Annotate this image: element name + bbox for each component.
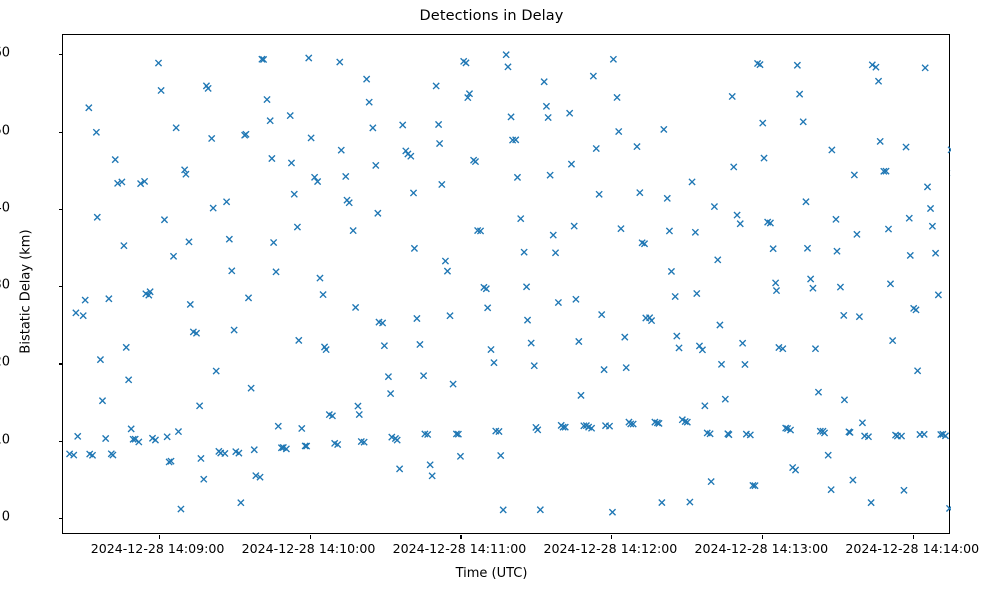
scatter-marker (851, 172, 857, 178)
scatter-marker (264, 96, 270, 102)
y-tick-mark (59, 518, 63, 519)
scatter-marker (692, 229, 698, 235)
scatter-marker (606, 423, 612, 429)
y-axis-label: Bistatic Delay (km) (19, 142, 34, 442)
scatter-marker (170, 253, 176, 259)
scatter-marker (571, 223, 577, 229)
scatter-marker (317, 275, 323, 281)
scatter-marker (152, 437, 158, 443)
scatter-marker (463, 60, 469, 66)
scatter-marker (417, 341, 423, 347)
scatter-marker (343, 173, 349, 179)
scatter-marker (901, 487, 907, 493)
scatter-marker (948, 147, 951, 153)
scatter-marker (99, 398, 105, 404)
scatter-marker (385, 374, 391, 380)
scatter-marker (524, 317, 530, 323)
scatter-marker (568, 161, 574, 167)
scatter-marker (856, 314, 862, 320)
y-tick-label: 60 (0, 46, 10, 61)
scatter-marker (590, 73, 596, 79)
scatter-marker (760, 120, 766, 126)
scatter-marker (106, 296, 112, 302)
scatter-marker (794, 62, 800, 68)
scatter-marker (593, 145, 599, 151)
scatter-marker (73, 310, 79, 316)
scatter-marker (737, 221, 743, 227)
scatter-marker (308, 135, 314, 141)
scatter-marker (238, 500, 244, 506)
scatter-marker (773, 280, 779, 286)
scatter-marker (804, 245, 810, 251)
scatter-marker (164, 434, 170, 440)
scatter-marker (523, 284, 529, 290)
scatter-marker (435, 121, 441, 127)
scatter-marker (491, 360, 497, 366)
scatter-marker (942, 433, 948, 439)
scatter-marker (676, 345, 682, 351)
scatter-marker (550, 232, 556, 238)
scatter-marker (299, 425, 305, 431)
scatter-marker (803, 199, 809, 205)
scatter-marker (687, 499, 693, 505)
scatter-marker (555, 299, 561, 305)
scatter-marker (126, 377, 132, 383)
scatter-marker (364, 76, 370, 82)
scatter-marker (485, 305, 491, 311)
scatter-marker (75, 433, 81, 439)
x-tick-mark (460, 535, 461, 539)
scatter-marker (197, 403, 203, 409)
scatter-marker (355, 403, 361, 409)
scatter-marker (231, 327, 237, 333)
scatter-marker (722, 396, 728, 402)
scatter-marker (773, 287, 779, 293)
scatter-marker (155, 60, 161, 66)
scatter-marker (616, 128, 622, 134)
scatter-marker (854, 231, 860, 237)
scatter-marker (797, 91, 803, 97)
scatter-marker (810, 285, 816, 291)
scatter-marker (877, 138, 883, 144)
scatter-marker (273, 269, 279, 275)
scatter-marker (875, 78, 881, 84)
x-tick-mark (310, 535, 311, 539)
scatter-marker (702, 403, 708, 409)
scatter-marker (935, 292, 941, 298)
x-tick-mark (913, 535, 914, 539)
scatter-marker (226, 236, 232, 242)
scatter-marker (411, 245, 417, 251)
scatter-marker (429, 473, 435, 479)
scatter-marker (850, 477, 856, 483)
scatter-marker (373, 162, 379, 168)
scatter-marker (483, 286, 489, 292)
scatter-marker (812, 346, 818, 352)
scatter-marker (222, 450, 228, 456)
y-tick-label: 20 (0, 355, 10, 370)
x-tick-mark (159, 535, 160, 539)
scatter-marker (634, 143, 640, 149)
scatter-marker (815, 389, 821, 395)
scatter-marker (248, 385, 254, 391)
scatter-marker (472, 158, 478, 164)
scatter-marker (829, 147, 835, 153)
x-tick-label: 2024-12-28 14:12:00 (544, 541, 678, 556)
scatter-marker (337, 59, 343, 65)
scatter-marker (275, 423, 281, 429)
scatter-marker (672, 293, 678, 299)
y-tick-label: 50 (0, 123, 10, 138)
scatter-marker (623, 365, 629, 371)
scatter-marker (388, 390, 394, 396)
y-tick-mark (59, 54, 63, 55)
y-tick-mark (59, 209, 63, 210)
scatter-marker (841, 397, 847, 403)
scatter-marker (740, 340, 746, 346)
scatter-marker (666, 228, 672, 234)
scatter-marker (381, 343, 387, 349)
scatter-marker (201, 476, 207, 482)
scatter-marker (97, 357, 103, 363)
scatter-marker (890, 338, 896, 344)
scatter-marker (718, 361, 724, 367)
scatter-marker (323, 346, 329, 352)
scatter-marker (450, 381, 456, 387)
scatter-marker (175, 429, 181, 435)
scatter-marker (320, 291, 326, 297)
scatter-marker (521, 249, 527, 255)
scatter-marker (350, 227, 356, 233)
scatter-marker (932, 250, 938, 256)
x-tick-label: 2024-12-28 14:14:00 (845, 541, 979, 556)
scatter-marker (223, 199, 229, 205)
scatter-marker (433, 83, 439, 89)
x-tick-label: 2024-12-28 14:10:00 (242, 541, 376, 556)
scatter-marker (547, 172, 553, 178)
scatter-marker (518, 216, 524, 222)
plot-axes (62, 34, 950, 534)
scatter-marker (366, 99, 372, 105)
scatter-marker (609, 509, 615, 515)
scatter-marker (674, 333, 680, 339)
scatter-marker (287, 112, 293, 118)
scatter-marker (414, 315, 420, 321)
scatter-marker (545, 114, 551, 120)
scatter-marker (699, 347, 705, 353)
scatter-marker (294, 224, 300, 230)
scatter-marker (186, 239, 192, 245)
y-tick-label: 40 (0, 200, 10, 215)
scatter-marker (80, 313, 86, 319)
y-tick-mark (59, 441, 63, 442)
y-tick-label: 10 (0, 432, 10, 447)
x-tick-label: 2024-12-28 14:13:00 (694, 541, 828, 556)
scatter-marker (573, 296, 579, 302)
scatter-marker (370, 125, 376, 131)
scatter-marker (121, 243, 127, 249)
scatter-marker (158, 87, 164, 93)
scatter-marker (82, 297, 88, 303)
x-axis-label: Time (UTC) (0, 566, 983, 581)
scatter-data-layer (63, 35, 951, 535)
scatter-marker (924, 184, 930, 190)
scatter-marker (514, 174, 520, 180)
scatter-marker (161, 217, 167, 223)
scatter-marker (267, 118, 273, 124)
scatter-marker (708, 478, 714, 484)
scatter-marker (178, 506, 184, 512)
scatter-marker (291, 191, 297, 197)
x-tick-mark (762, 535, 763, 539)
scatter-marker (397, 466, 403, 472)
scatter-marker (447, 313, 453, 319)
scatter-markers (63, 35, 951, 535)
scatter-marker (837, 284, 843, 290)
scatter-marker (528, 340, 534, 346)
scatter-marker (601, 367, 607, 373)
scatter-marker (729, 93, 735, 99)
scatter-marker (715, 257, 721, 263)
scatter-marker (346, 200, 352, 206)
scatter-marker (209, 135, 215, 141)
scatter-marker (906, 215, 912, 221)
scatter-marker (689, 179, 695, 185)
scatter-marker (123, 344, 129, 350)
y-tick-label: 30 (0, 278, 10, 293)
scatter-marker (599, 311, 605, 317)
scatter-marker (903, 144, 909, 150)
scatter-marker (103, 435, 109, 441)
scatter-marker (694, 290, 700, 296)
scatter-marker (356, 411, 362, 417)
y-tick-label: 0 (0, 509, 10, 524)
scatter-marker (457, 453, 463, 459)
scatter-marker (94, 214, 100, 220)
scatter-marker (825, 452, 831, 458)
y-tick-mark (59, 132, 63, 133)
scatter-marker (543, 103, 549, 109)
scatter-marker (859, 420, 865, 426)
x-tick-mark (611, 535, 612, 539)
scatter-marker (436, 140, 442, 146)
scatter-marker (618, 226, 624, 232)
scatter-marker (833, 216, 839, 222)
y-tick-mark (59, 363, 63, 364)
scatter-marker (269, 155, 275, 161)
scatter-marker (711, 203, 717, 209)
scatter-marker (885, 226, 891, 232)
scatter-marker (761, 155, 767, 161)
scatter-marker (946, 505, 951, 511)
scatter-marker (288, 160, 294, 166)
scatter-marker (828, 487, 834, 493)
scatter-marker (210, 205, 216, 211)
scatter-marker (576, 338, 582, 344)
scatter-marker (792, 467, 798, 473)
scatter-marker (444, 268, 450, 274)
y-tick-mark (59, 286, 63, 287)
scatter-marker (734, 212, 740, 218)
scatter-marker (488, 346, 494, 352)
scatter-marker (187, 301, 193, 307)
scatter-marker (531, 363, 537, 369)
scatter-marker (271, 239, 277, 245)
scatter-marker (93, 129, 99, 135)
scatter-marker (128, 426, 134, 432)
matplotlib-figure: Detections in Delay Bistatic Delay (km) … (0, 0, 983, 590)
scatter-marker (808, 276, 814, 282)
scatter-marker (800, 119, 806, 125)
scatter-marker (408, 153, 414, 159)
scatter-marker (914, 368, 920, 374)
scatter-marker (205, 85, 211, 91)
scatter-marker (541, 79, 547, 85)
scatter-marker (296, 337, 302, 343)
scatter-marker (868, 500, 874, 506)
scatter-marker (929, 223, 935, 229)
scatter-marker (747, 432, 753, 438)
scatter-marker (552, 250, 558, 256)
scatter-marker (535, 427, 541, 433)
scatter-marker (500, 507, 506, 513)
scatter-marker (86, 105, 92, 111)
scatter-marker (907, 252, 913, 258)
scatter-marker (622, 334, 628, 340)
scatter-marker (306, 55, 312, 61)
scatter-marker (614, 94, 620, 100)
scatter-marker (922, 65, 928, 71)
scatter-marker (610, 56, 616, 62)
scatter-marker (887, 281, 893, 287)
scatter-marker (661, 126, 667, 132)
scatter-marker (717, 322, 723, 328)
scatter-marker (400, 122, 406, 128)
scatter-marker (251, 447, 257, 453)
scatter-marker (338, 147, 344, 153)
scatter-marker (503, 52, 509, 58)
scatter-marker (352, 304, 358, 310)
scatter-marker (229, 268, 235, 274)
scatter-marker (834, 248, 840, 254)
scatter-marker (921, 431, 927, 437)
x-tick-label: 2024-12-28 14:09:00 (91, 541, 225, 556)
scatter-marker (664, 195, 670, 201)
scatter-marker (112, 157, 118, 163)
scatter-marker (742, 361, 748, 367)
scatter-marker (596, 191, 602, 197)
scatter-marker (410, 190, 416, 196)
scatter-marker (913, 307, 919, 313)
scatter-marker (498, 452, 504, 458)
scatter-marker (505, 64, 511, 70)
scatter-marker (659, 499, 665, 505)
scatter-marker (637, 190, 643, 196)
scatter-marker (927, 205, 933, 211)
scatter-marker (770, 246, 776, 252)
scatter-marker (537, 507, 543, 513)
scatter-marker (731, 164, 737, 170)
scatter-marker (427, 462, 433, 468)
scatter-marker (898, 433, 904, 439)
scatter-marker (508, 114, 514, 120)
scatter-marker (841, 312, 847, 318)
scatter-marker (173, 125, 179, 131)
scatter-marker (375, 210, 381, 216)
scatter-marker (245, 295, 251, 301)
scatter-marker (420, 373, 426, 379)
scatter-marker (198, 455, 204, 461)
scatter-marker (213, 368, 219, 374)
scatter-marker (578, 392, 584, 398)
scatter-marker (668, 268, 674, 274)
scatter-marker (442, 258, 448, 264)
scatter-marker (567, 110, 573, 116)
scatter-marker (439, 181, 445, 187)
x-tick-label: 2024-12-28 14:11:00 (393, 541, 527, 556)
page-title: Detections in Delay (0, 8, 983, 24)
